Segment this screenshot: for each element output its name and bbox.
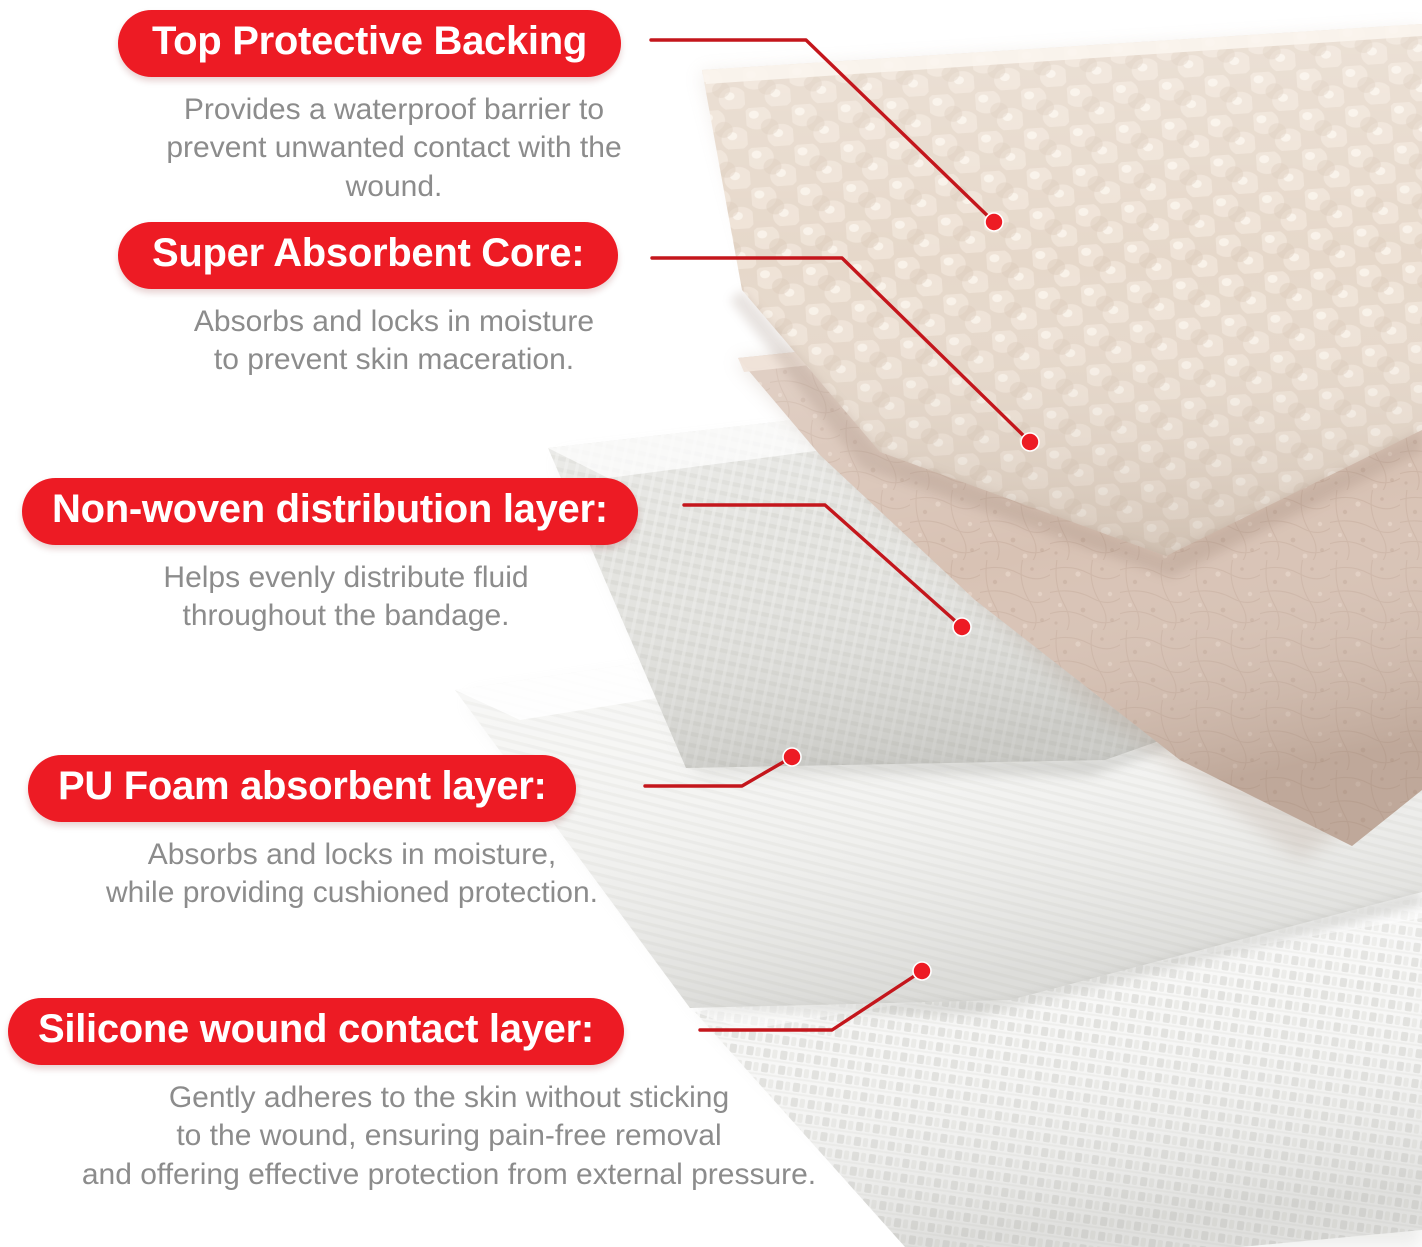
leader-line-top-protective-backing bbox=[651, 40, 994, 222]
label-text-non-woven-distribution-layer: Non-woven distribution layer: bbox=[52, 489, 608, 529]
label-pill-top-protective-backing[interactable]: Top Protective Backing bbox=[118, 10, 621, 77]
label-pill-non-woven-distribution-layer[interactable]: Non-woven distribution layer: bbox=[22, 478, 638, 545]
callout-non-woven-distribution-layer: Non-woven distribution layer: Helps even… bbox=[22, 478, 676, 636]
top-protective-backing-sheet bbox=[700, 24, 1422, 578]
callout-top-protective-backing: Top Protective Backing Provides a waterp… bbox=[118, 10, 674, 206]
infographic-canvas: Top Protective Backing Provides a waterp… bbox=[0, 0, 1422, 1247]
description-top-protective-backing: Provides a waterproof barrier to prevent… bbox=[114, 91, 674, 206]
label-pill-silicone-wound-contact-layer[interactable]: Silicone wound contact layer: bbox=[8, 998, 624, 1065]
non-woven-distribution-sheet bbox=[548, 348, 1422, 776]
leader-dot-non-woven-distribution-layer bbox=[953, 618, 971, 636]
leader-line-non-woven-distribution-layer bbox=[684, 505, 962, 627]
description-super-absorbent-core: Absorbs and locks in moisture to prevent… bbox=[114, 303, 674, 380]
leader-dot-super-absorbent-core bbox=[1021, 433, 1039, 451]
label-pill-pu-foam-absorbent-layer[interactable]: PU Foam absorbent layer: bbox=[28, 755, 576, 822]
leader-dot-pu-foam-absorbent-layer bbox=[783, 748, 801, 766]
label-pill-super-absorbent-core[interactable]: Super Absorbent Core: bbox=[118, 222, 618, 289]
leader-dot-silicone-wound-contact-layer bbox=[913, 962, 931, 980]
super-absorbent-core-sheet bbox=[735, 288, 1422, 860]
description-pu-foam-absorbent-layer: Absorbs and locks in moisture, while pro… bbox=[22, 836, 682, 913]
description-non-woven-distribution-layer: Helps evenly distribute fluid throughout… bbox=[16, 559, 676, 636]
callout-super-absorbent-core: Super Absorbent Core: Absorbs and locks … bbox=[118, 222, 674, 380]
leader-line-super-absorbent-core bbox=[652, 258, 1030, 442]
callout-pu-foam-absorbent-layer: PU Foam absorbent layer: Absorbs and loc… bbox=[28, 755, 682, 913]
label-text-pu-foam-absorbent-layer: PU Foam absorbent layer: bbox=[58, 766, 546, 806]
label-text-super-absorbent-core: Super Absorbent Core: bbox=[152, 233, 584, 273]
description-silicone-wound-contact-layer: Gently adheres to the skin without stick… bbox=[4, 1079, 894, 1194]
leader-dot-top-protective-backing bbox=[985, 213, 1003, 231]
label-text-top-protective-backing: Top Protective Backing bbox=[152, 21, 587, 61]
callout-silicone-wound-contact-layer: Silicone wound contact layer: Gently adh… bbox=[8, 998, 894, 1194]
label-text-silicone-wound-contact-layer: Silicone wound contact layer: bbox=[38, 1009, 594, 1049]
